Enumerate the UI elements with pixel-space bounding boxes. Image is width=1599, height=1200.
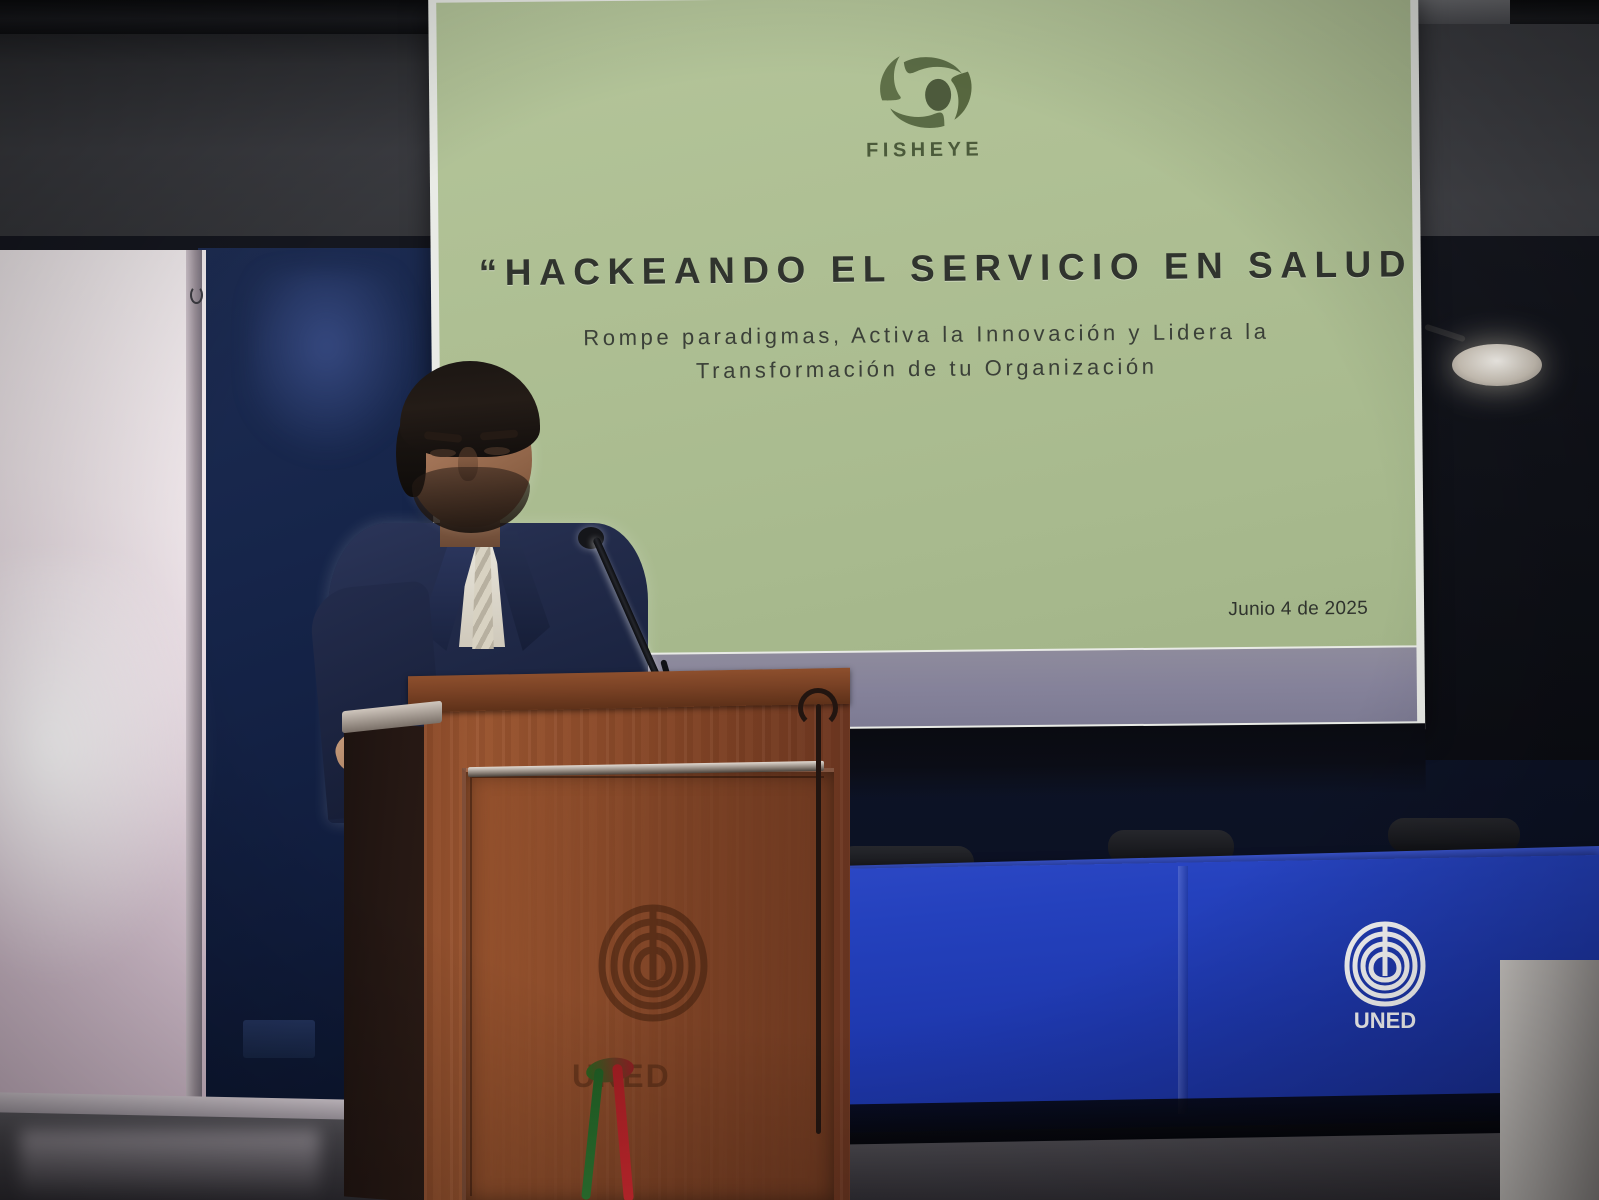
slide-title: “HACKEANDO EL SERVICIO EN SALUD” [479,244,1383,295]
floor-reflection [20,1130,320,1200]
uned-logo-table: UNED [1337,916,1433,1034]
hair [400,361,540,457]
fisheye-wordmark: FISHEYE [438,134,1412,166]
black-cable [816,704,821,1134]
wooden-podium: UNED [320,672,850,1200]
wall-highlight [0,560,200,980]
chair-headrest [1388,818,1520,852]
slide-logo-block: FISHEYE [437,45,1412,166]
tablecloth-fold [1178,866,1188,1114]
wall-plate [243,1020,315,1058]
fisheye-fish-logo [870,49,979,132]
conference-table [836,855,1599,1133]
eye-right [484,447,510,455]
conference-room-photo: FISHEYE “HACKEANDO EL SERVICIO EN SALUD”… [0,0,1599,1200]
door-panel-right [1500,960,1599,1200]
uned-fingerprint-icon: UNED [1337,916,1433,1034]
eye-left [430,449,456,457]
wall-corner-edge [186,250,202,1122]
uned-logo-podium [588,900,718,1050]
wall-hook-icon [190,286,203,304]
ceiling-light [1452,344,1542,386]
uned-wordmark: UNED [1354,1008,1416,1033]
podium-side-panel [344,720,436,1200]
slide-date: Junio 4 de 2025 [1228,598,1368,621]
uned-fingerprint-icon [588,900,718,1050]
